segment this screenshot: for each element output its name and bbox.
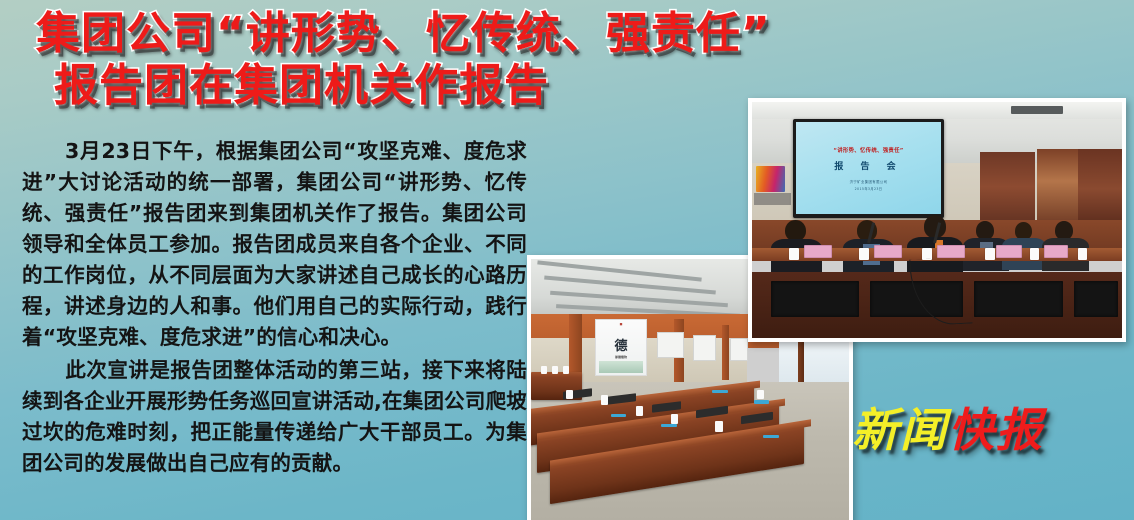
name-plate — [804, 245, 832, 258]
headline-line-1: 集团公司“讲形势、忆传统、强责任” — [36, 8, 736, 60]
projection-screen: “讲形势、忆传统、强责任” 报 告 会 济宁矿业集团有限公司 2015年3月23… — [796, 122, 940, 213]
table-front-inset — [1074, 281, 1118, 316]
table-front-inset — [974, 281, 1063, 316]
banner-image — [599, 361, 644, 373]
desk-label — [712, 390, 728, 393]
news-poster: 集团公司“讲形势、忆传统、强责任” 报告团在集团机关作报告 3月23日下午，根据… — [0, 0, 1134, 520]
water-cup — [566, 390, 573, 399]
water-cup — [789, 248, 799, 260]
wood-wall-panel — [980, 152, 1036, 230]
water-cup — [985, 248, 995, 260]
ceiling-beam — [752, 102, 1122, 119]
screen-title-line: “讲形势、忆传统、强责任” — [833, 146, 903, 154]
wall-column — [722, 325, 730, 380]
wall-picture-frame — [657, 332, 684, 358]
wood-wall-panel — [1037, 149, 1078, 229]
table-front-inset — [771, 281, 860, 316]
name-plate — [874, 245, 902, 258]
news-flash-stamp: 新闻快报 — [852, 404, 1044, 456]
desk-label — [763, 435, 779, 438]
paragraph-2-text: 此次宣讲是报告团整体活动的第三站，接下来将陆续到各企业开展形势任务巡回宣讲活动,… — [22, 358, 527, 475]
water-cup — [563, 366, 569, 374]
wall-picture-frame — [693, 335, 716, 361]
water-cup — [671, 414, 678, 424]
article-paragraph-2: 此次宣讲是报告团整体活动的第三站，接下来将陆续到各企业开展形势任务巡回宣讲活动,… — [22, 355, 527, 479]
screen-date-line: 2015年3月23日 — [855, 186, 883, 191]
name-plate — [937, 245, 965, 258]
panel-photo-content: “讲形势、忆传统、强责任” 报 告 会 济宁矿业集团有限公司 2015年3月23… — [752, 102, 1122, 338]
news-flash-red-text: 快报 — [948, 403, 1044, 457]
headline-line-2: 报告团在集团机关作报告 — [36, 60, 736, 112]
desk-label — [754, 400, 770, 403]
wall-banner: ■ 德 厚德载物 — [595, 319, 648, 376]
wood-wall-panel — [1078, 149, 1122, 229]
company-logo-text — [754, 193, 791, 205]
name-plate — [996, 245, 1022, 258]
banner-top-mark: ■ — [620, 322, 623, 326]
article-body: 3月23日下午，根据集团公司“攻坚克难、度危求进”大讨论活动的统一部署，集团公司… — [22, 136, 527, 479]
article-paragraph-1: 3月23日下午，根据集团公司“攻坚克难、度危求进”大讨论活动的统一部署，集团公司… — [22, 136, 527, 353]
desk-label — [611, 414, 627, 417]
wall-picture-frame — [730, 338, 748, 361]
screen-main-line: 报 告 会 — [834, 159, 902, 172]
water-cup — [1078, 248, 1088, 260]
news-flash-yellow-text: 新闻 — [852, 403, 948, 457]
water-cup — [1030, 248, 1040, 260]
name-plate — [1044, 245, 1068, 258]
company-logo — [756, 166, 786, 192]
desk-label — [661, 424, 677, 427]
water-cup — [757, 390, 764, 399]
paragraph-1-text: 3月23日下午，根据集团公司“攻坚克难、度危求进”大讨论活动的统一部署，集团公司… — [22, 139, 527, 349]
screen-org-line: 济宁矿业集团有限公司 — [850, 179, 888, 184]
water-cup — [715, 421, 723, 431]
banner-character: 德 — [615, 335, 628, 354]
water-cup — [541, 366, 547, 374]
water-cup — [859, 248, 869, 260]
water-cup — [552, 366, 558, 374]
projection-screen-frame: “讲形势、忆传统、强责任” 报 告 会 济宁矿业集团有限公司 2015年3月23… — [793, 119, 945, 218]
ceiling-vent — [1011, 106, 1063, 114]
banner-subtext: 厚德载物 — [615, 355, 627, 359]
head-table-panel-photo: “讲形势、忆传统、强责任” 报 告 会 济宁矿业集团有限公司 2015年3月23… — [748, 98, 1126, 342]
water-cup — [601, 395, 608, 404]
page-title: 集团公司“讲形势、忆传统、强责任” 报告团在集团机关作报告 — [36, 8, 736, 112]
water-cup — [636, 406, 643, 416]
